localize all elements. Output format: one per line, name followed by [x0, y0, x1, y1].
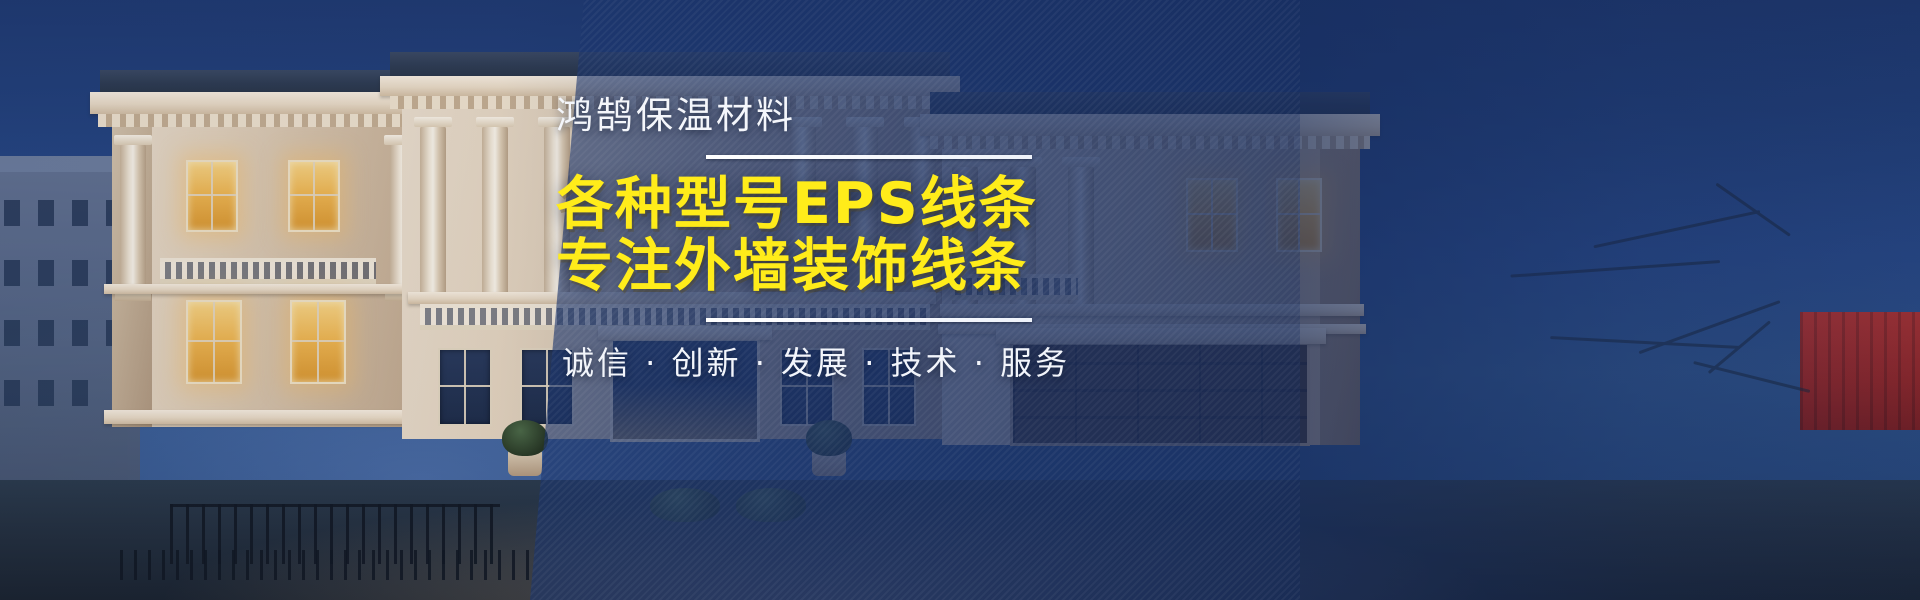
banner-copy: 鸿鹄保温材料 各种型号EPS线条 专注外墙装饰线条 诚信 · 创新 · 发展 ·…: [556, 96, 1276, 384]
divider-top: [706, 155, 1032, 159]
divider-bottom: [706, 318, 1032, 322]
hero-banner: 鸿鹄保温材料 各种型号EPS线条 专注外墙装饰线条 诚信 · 创新 · 发展 ·…: [0, 0, 1920, 600]
headline-line-2: 专注外墙装饰线条: [556, 235, 1276, 298]
right-overlay-fade: [1300, 0, 1920, 600]
brand-name: 鸿鹄保温材料: [556, 96, 1276, 137]
slogan: 诚信 · 创新 · 发展 · 技术 · 服务: [556, 338, 1276, 384]
headline-line-1: 各种型号EPS线条: [556, 173, 1276, 236]
